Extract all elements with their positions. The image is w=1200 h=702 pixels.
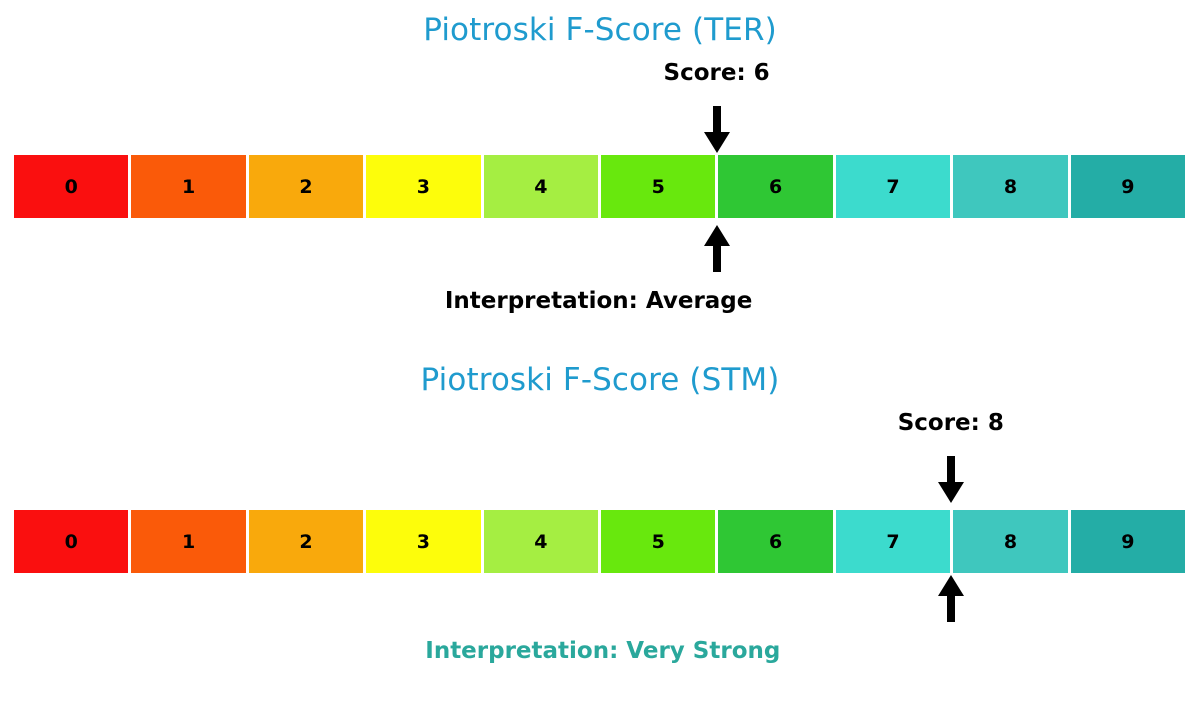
scale-segment-5: 5 bbox=[601, 155, 715, 218]
scale-segment-5: 5 bbox=[601, 510, 715, 573]
scale-segment-label: 0 bbox=[65, 176, 78, 198]
scale-segment-label: 7 bbox=[886, 176, 899, 198]
scale-segment-6: 6 bbox=[718, 510, 832, 573]
score-label-stm: Score: 8 bbox=[898, 410, 1004, 436]
gauge-title-ter: Piotroski F-Score (TER) bbox=[0, 12, 1200, 48]
scale-segment-4: 4 bbox=[484, 155, 598, 218]
scale-segment-9: 9 bbox=[1071, 155, 1185, 218]
scale-segment-label: 8 bbox=[1004, 176, 1017, 198]
arrow-down-icon-ter bbox=[702, 106, 732, 154]
scale-segment-7: 7 bbox=[836, 510, 950, 573]
scale-segment-3: 3 bbox=[366, 510, 480, 573]
arrow-up-icon-ter bbox=[702, 224, 732, 272]
scale-segment-1: 1 bbox=[131, 155, 245, 218]
scale-segment-0: 0 bbox=[14, 155, 128, 218]
scale-segment-label: 1 bbox=[182, 176, 195, 198]
scale-segment-label: 9 bbox=[1121, 176, 1134, 198]
interpretation-label-ter: Interpretation: Average bbox=[445, 288, 753, 314]
scale-segment-label: 4 bbox=[534, 176, 547, 198]
scale-segment-label: 8 bbox=[1004, 531, 1017, 553]
scale-segment-2: 2 bbox=[249, 510, 363, 573]
arrow-down-icon-stm bbox=[936, 456, 966, 504]
interpretation-label-stm: Interpretation: Very Strong bbox=[425, 638, 780, 664]
scale-segment-3: 3 bbox=[366, 155, 480, 218]
fscore-gauge-ter: Piotroski F-Score (TER) Score: 6 0123456… bbox=[0, 0, 1200, 340]
scale-segment-label: 2 bbox=[299, 176, 312, 198]
score-scale-bar-ter: 0123456789 bbox=[14, 155, 1185, 218]
scale-segment-9: 9 bbox=[1071, 510, 1185, 573]
arrow-up-icon-stm bbox=[936, 574, 966, 622]
scale-segment-label: 4 bbox=[534, 531, 547, 553]
fscore-gauge-stm: Piotroski F-Score (STM) Score: 8 0123456… bbox=[0, 350, 1200, 702]
scale-segment-label: 6 bbox=[769, 531, 782, 553]
scale-segment-8: 8 bbox=[953, 155, 1067, 218]
scale-segment-0: 0 bbox=[14, 510, 128, 573]
score-scale-bar-stm: 0123456789 bbox=[14, 510, 1185, 573]
scale-segment-2: 2 bbox=[249, 155, 363, 218]
scale-segment-8: 8 bbox=[953, 510, 1067, 573]
scale-segment-label: 5 bbox=[652, 176, 665, 198]
scale-segment-6: 6 bbox=[718, 155, 832, 218]
scale-segment-label: 5 bbox=[652, 531, 665, 553]
scale-segment-label: 3 bbox=[417, 176, 430, 198]
scale-segment-label: 7 bbox=[886, 531, 899, 553]
score-label-ter: Score: 6 bbox=[664, 60, 770, 86]
gauge-title-stm: Piotroski F-Score (STM) bbox=[0, 362, 1200, 398]
scale-segment-label: 0 bbox=[65, 531, 78, 553]
scale-segment-1: 1 bbox=[131, 510, 245, 573]
scale-segment-label: 9 bbox=[1121, 531, 1134, 553]
scale-segment-7: 7 bbox=[836, 155, 950, 218]
scale-segment-label: 3 bbox=[417, 531, 430, 553]
scale-segment-4: 4 bbox=[484, 510, 598, 573]
scale-segment-label: 1 bbox=[182, 531, 195, 553]
scale-segment-label: 6 bbox=[769, 176, 782, 198]
scale-segment-label: 2 bbox=[299, 531, 312, 553]
